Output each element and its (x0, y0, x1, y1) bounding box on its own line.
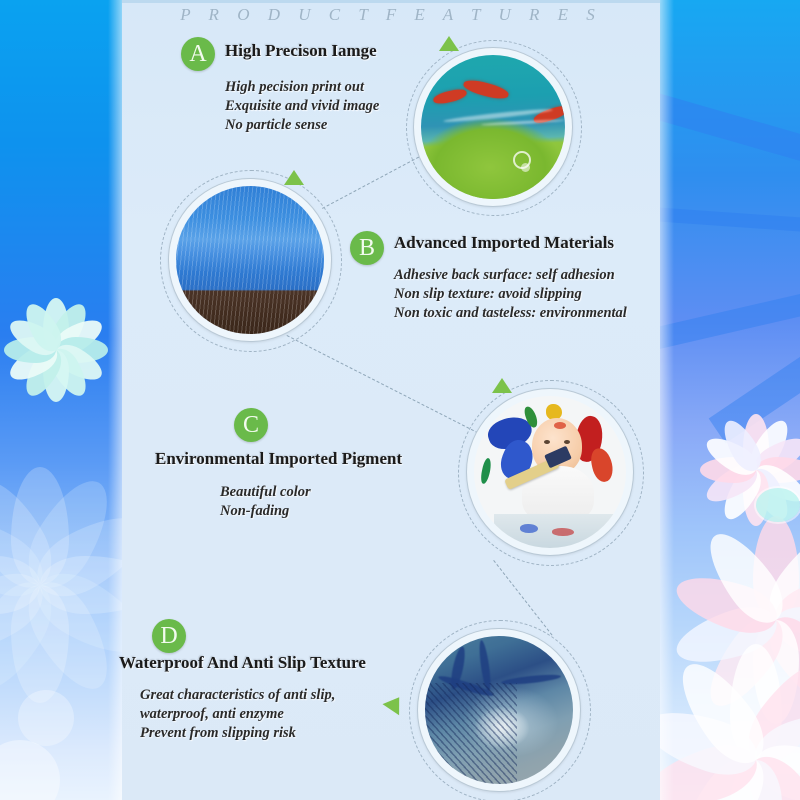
feature-heading-c: Environmental Imported Pigment (155, 449, 402, 469)
feature-line: No particle sense (225, 116, 379, 135)
feature-line: Non-fading (220, 502, 311, 521)
waterproof-texture-photo (425, 636, 573, 784)
page-title: P R O D U C T F E A T U R E S (122, 5, 660, 25)
feature-line: Non toxic and tasteless: environmental (394, 304, 627, 323)
feature-line: Exquisite and vivid image (225, 97, 379, 116)
painting-baby-photo (474, 396, 626, 548)
paint-splatter-decor (589, 446, 616, 483)
bubble-decor-icon (18, 690, 74, 746)
feature-photo-b (158, 168, 344, 354)
feature-line: Prevent from slipping risk (140, 724, 335, 743)
anti-slip-hatch-texture (425, 683, 517, 784)
paint-splatter-decor (552, 528, 574, 536)
feature-badge-b: B (350, 231, 384, 265)
paint-splatter-decor (554, 422, 566, 429)
flow-arrow-icon (383, 692, 408, 716)
ribbon-shard-icon (660, 206, 800, 237)
water-droplet-decor (521, 163, 530, 172)
paint-splatter-decor (479, 457, 492, 484)
blue-fabric-photo (176, 186, 324, 334)
ribbon-shard-icon (660, 272, 800, 350)
fabric-weave-texture (176, 186, 324, 334)
content-panel: P R O D U C T F E A T U R E S A High Pre… (122, 0, 660, 800)
left-decorative-band (0, 0, 122, 800)
koi-fish-shape (462, 77, 510, 102)
feature-badge-a: A (181, 37, 215, 71)
feature-body-d: Great characteristics of anti slip, wate… (140, 686, 335, 743)
bubble-decor-icon (756, 488, 800, 522)
product-features-poster: P R O D U C T F E A T U R E S A High Pre… (0, 0, 800, 800)
feature-line: waterproof, anti enzyme (140, 705, 335, 724)
baby-eye-shape (544, 440, 550, 444)
band-edge-gradient (108, 0, 122, 800)
koi-pond-photo (421, 55, 565, 199)
feature-heading-a: High Precison Iamge (225, 41, 377, 61)
paint-splatter-decor (520, 524, 538, 533)
ribbon-shard-icon (660, 87, 800, 178)
feature-badge-d: D (152, 619, 186, 653)
feature-body-b: Adhesive back surface: self adhesion Non… (394, 266, 627, 323)
feature-badge-c: C (234, 408, 268, 442)
feature-body-c: Beautiful color Non-fading (220, 483, 311, 521)
baby-eye-shape (564, 440, 570, 444)
bubble-decor-icon (0, 740, 60, 800)
feature-line: Non slip texture: avoid slipping (394, 285, 627, 304)
feature-heading-d: Waterproof And Anti Slip Texture (119, 653, 366, 673)
ribbon-shard-icon (686, 0, 800, 45)
feature-heading-b: Advanced Imported Materials (394, 233, 614, 253)
right-decorative-band (660, 0, 800, 800)
feature-line: Great characteristics of anti slip, (140, 686, 335, 705)
flow-arrow-icon (492, 378, 512, 393)
flow-arrow-icon (284, 170, 304, 185)
feature-photo-c (456, 378, 646, 568)
panel-top-rule (122, 0, 660, 3)
koi-fish-shape (432, 88, 468, 106)
feature-line: Beautiful color (220, 483, 311, 502)
feature-body-a: High pecision print out Exquisite and vi… (225, 78, 379, 135)
feature-line: High pecision print out (225, 78, 379, 97)
feature-photo-d (407, 618, 593, 800)
feature-line: Adhesive back surface: self adhesion (394, 266, 627, 285)
water-streak-decor (481, 119, 565, 126)
flow-arrow-icon (439, 36, 459, 51)
feature-photo-a (404, 38, 584, 218)
band-edge-gradient (660, 0, 674, 800)
